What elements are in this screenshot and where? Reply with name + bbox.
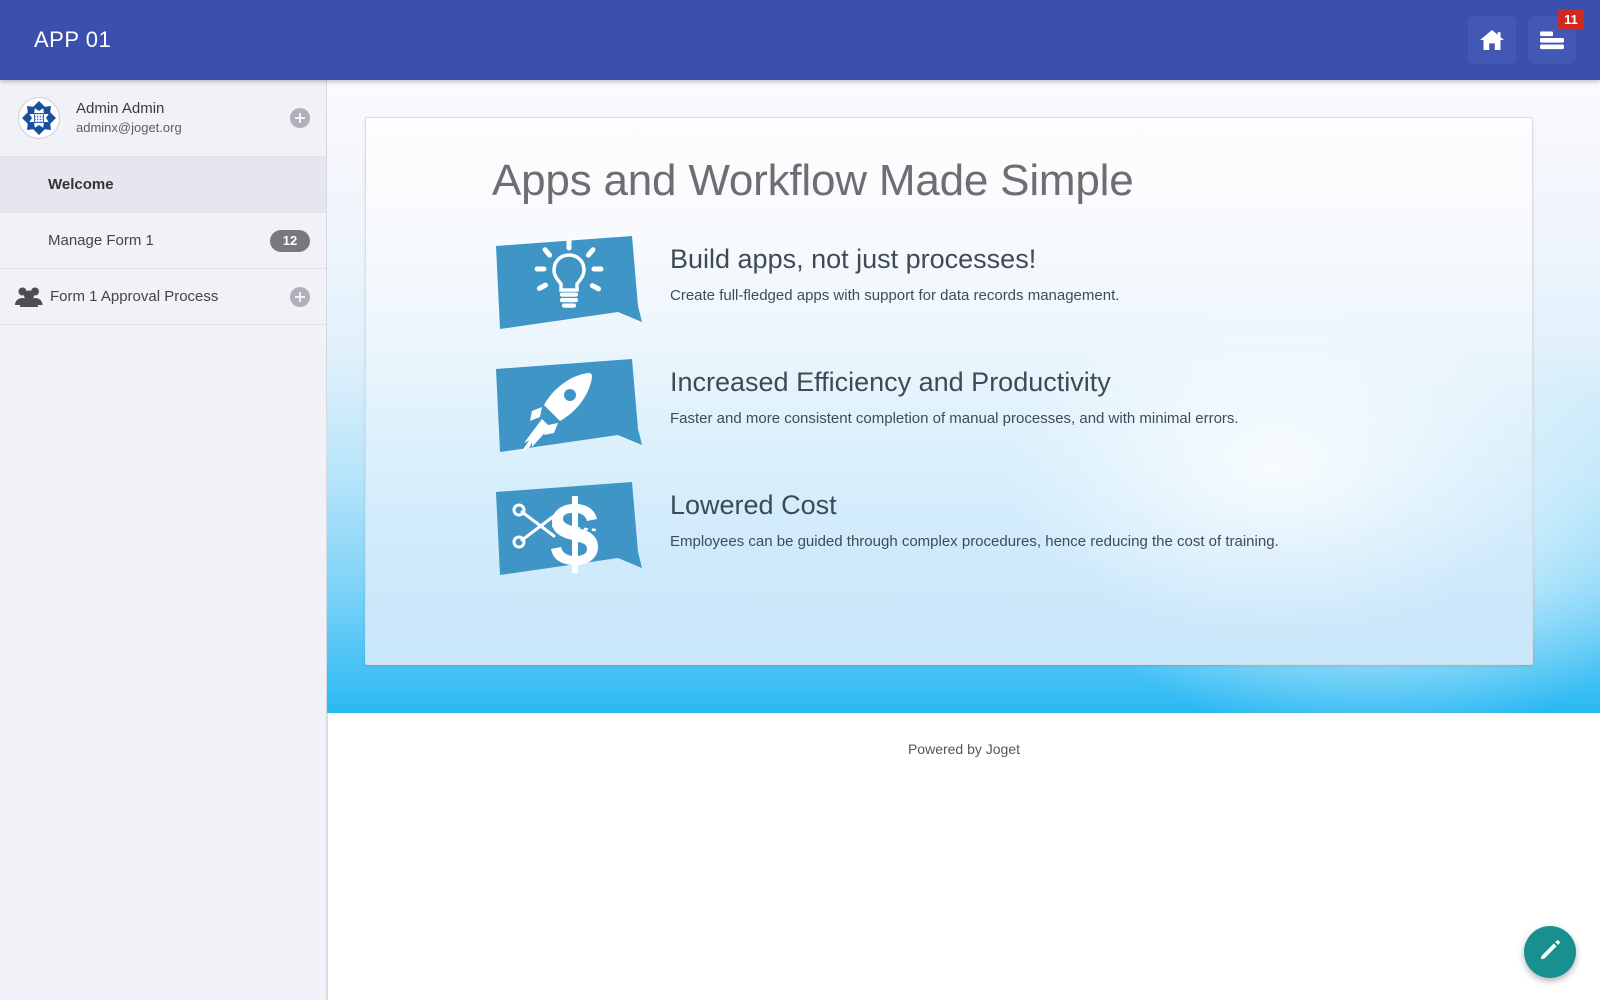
hero-card: Apps and Workflow Made Simple bbox=[365, 117, 1533, 665]
feature-item-build-apps: Build apps, not just processes! Create f… bbox=[492, 234, 1532, 337]
user-name: Admin Admin bbox=[76, 99, 290, 119]
feature-text: Build apps, not just processes! Create f… bbox=[670, 234, 1119, 306]
users-group-icon bbox=[14, 286, 44, 308]
feature-description: Employees can be guided through complex … bbox=[670, 532, 1279, 552]
feature-item-increased-efficiency: Increased Efficiency and Productivity Fa… bbox=[492, 357, 1532, 460]
inbox-button[interactable]: 11 bbox=[1528, 16, 1576, 64]
plus-icon bbox=[290, 287, 310, 307]
inbox-icon bbox=[1538, 28, 1566, 52]
sidebar-item-badge: 12 bbox=[270, 230, 310, 252]
user-profile-block[interactable]: Admin Admin adminx@joget.org bbox=[0, 80, 326, 157]
edit-fab-button[interactable] bbox=[1524, 926, 1576, 978]
feature-description: Faster and more consistent completion of… bbox=[670, 409, 1239, 429]
sidebar-item-manage-form-1[interactable]: Manage Form 1 12 bbox=[0, 213, 326, 269]
app-header: APP 01 11 bbox=[0, 0, 1600, 80]
page-title: APP 01 bbox=[34, 27, 111, 53]
feature-title: Build apps, not just processes! bbox=[670, 242, 1119, 276]
sidebar-item-label: Form 1 Approval Process bbox=[50, 288, 290, 305]
pencil-icon bbox=[1538, 938, 1562, 967]
avatar bbox=[18, 97, 60, 139]
header-actions: 11 bbox=[1468, 16, 1576, 64]
feature-title: Lowered Cost bbox=[670, 488, 1279, 522]
feature-text: Lowered Cost Employees can be guided thr… bbox=[670, 480, 1279, 552]
scissors-dollar-icon bbox=[492, 480, 644, 583]
feature-item-lowered-cost: Lowered Cost Employees can be guided thr… bbox=[492, 480, 1532, 583]
footer: Powered by Joget bbox=[327, 713, 1600, 1000]
add-process-button[interactable] bbox=[290, 287, 310, 307]
sidebar-item-welcome[interactable]: Welcome bbox=[0, 157, 326, 213]
sidebar-item-label: Manage Form 1 bbox=[48, 232, 270, 249]
rocket-icon bbox=[492, 357, 644, 460]
home-button[interactable] bbox=[1468, 16, 1516, 64]
feature-description: Create full-fledged apps with support fo… bbox=[670, 286, 1119, 306]
feature-list: Build apps, not just processes! Create f… bbox=[366, 234, 1532, 583]
lightbulb-icon bbox=[492, 234, 644, 337]
feature-text: Increased Efficiency and Productivity Fa… bbox=[670, 357, 1239, 429]
sidebar-item-form-1-approval-process[interactable]: Form 1 Approval Process bbox=[0, 269, 326, 325]
feature-title: Increased Efficiency and Productivity bbox=[670, 365, 1239, 399]
plus-icon bbox=[290, 108, 310, 128]
footer-text: Powered by Joget bbox=[328, 713, 1600, 757]
sidebar-item-label: Welcome bbox=[48, 176, 310, 193]
hero-title: Apps and Workflow Made Simple bbox=[492, 156, 1532, 206]
main-content: Apps and Workflow Made Simple bbox=[327, 80, 1600, 713]
inbox-badge: 11 bbox=[1558, 9, 1584, 30]
user-text: Admin Admin adminx@joget.org bbox=[76, 99, 290, 137]
home-icon bbox=[1479, 28, 1505, 52]
user-email: adminx@joget.org bbox=[76, 119, 290, 137]
sidebar: Admin Admin adminx@joget.org Welcome Man… bbox=[0, 80, 327, 1000]
add-user-button[interactable] bbox=[290, 108, 310, 128]
